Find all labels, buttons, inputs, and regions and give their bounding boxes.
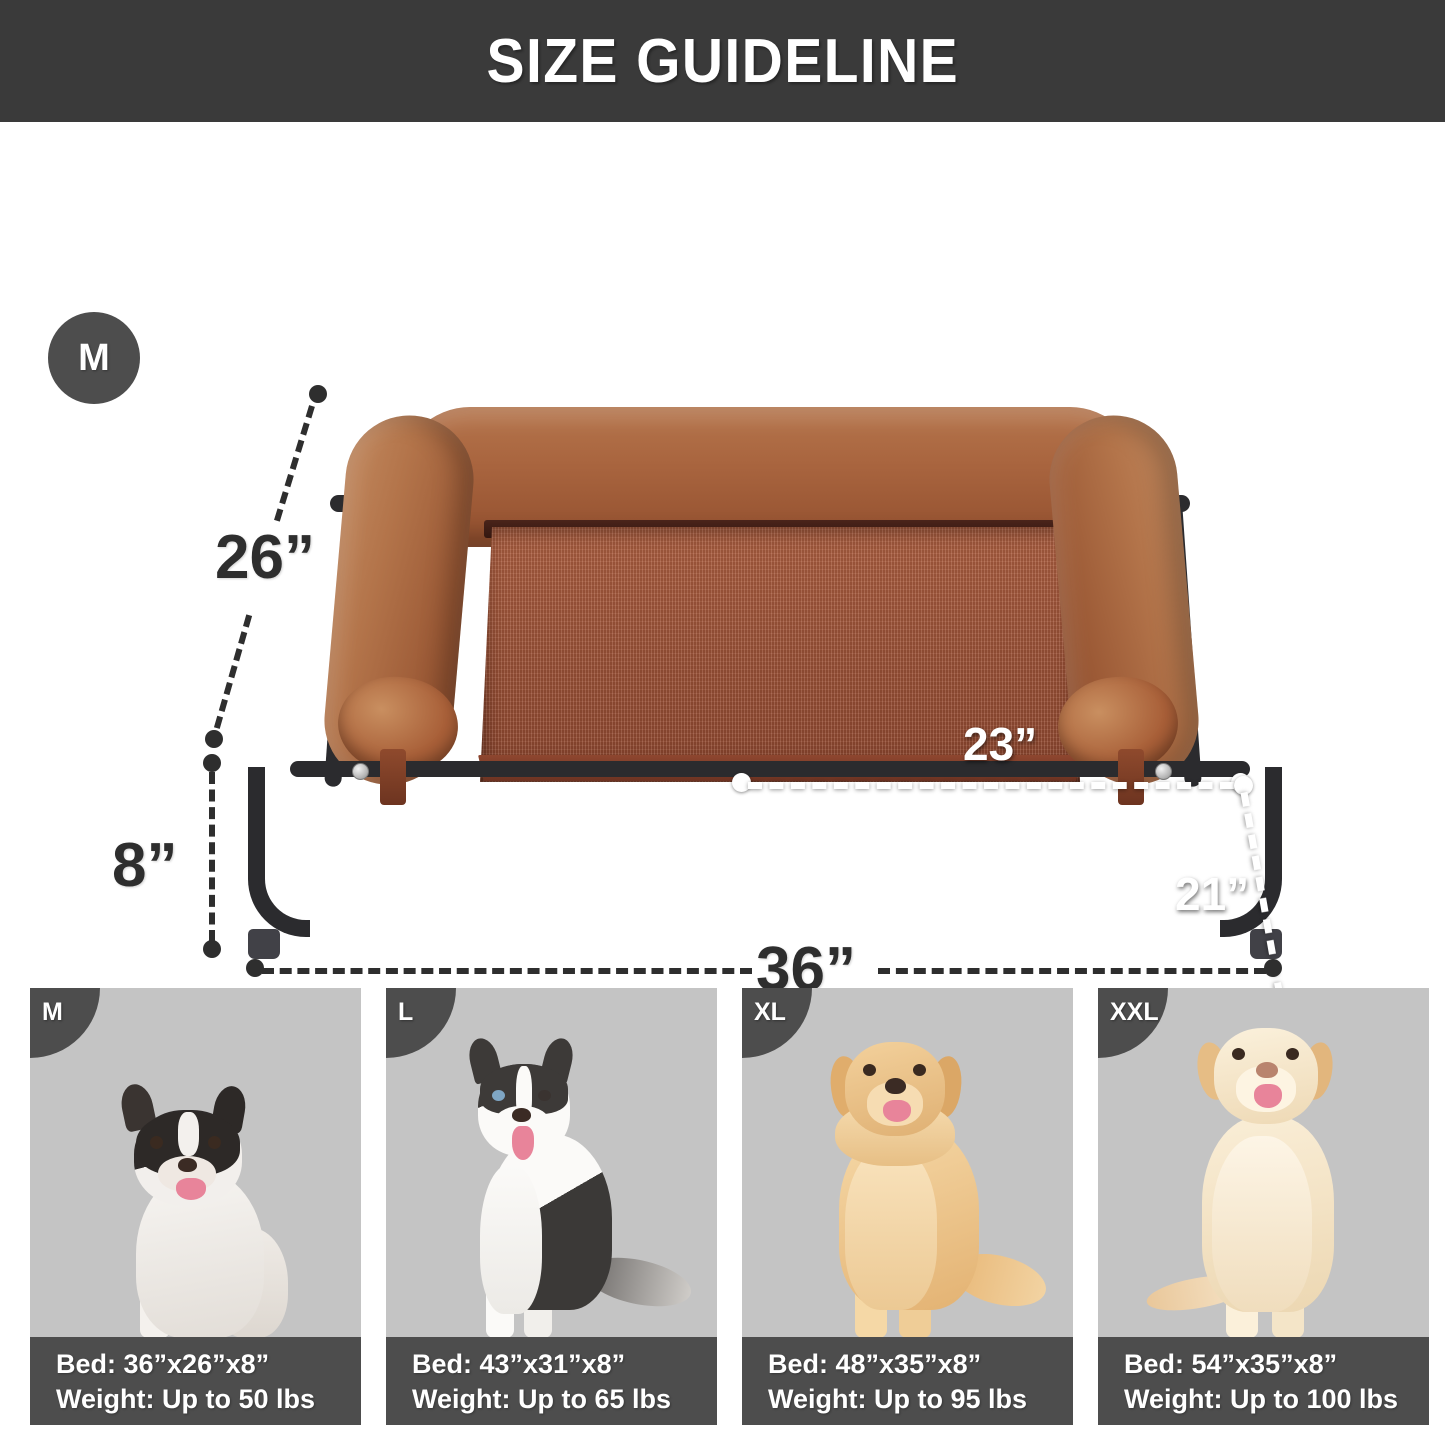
dog-eye xyxy=(1232,1048,1245,1060)
frame-screw-left xyxy=(352,763,369,780)
dog-eye xyxy=(538,1090,551,1101)
page-title: SIZE GUIDELINE xyxy=(486,26,959,97)
dog-photo-siberian-husky xyxy=(386,988,717,1338)
dog-tongue xyxy=(176,1178,206,1200)
leather-strap-right xyxy=(1118,749,1144,805)
bed-dimensions-text: Bed: 43”x31”x8” xyxy=(412,1347,717,1382)
golden-retriever-illustration xyxy=(783,1020,1033,1338)
dimension-dot-height-mid xyxy=(205,730,223,748)
weight-capacity-text: Weight: Up to 50 lbs xyxy=(56,1382,361,1417)
dog-chest xyxy=(845,1146,937,1310)
leather-strap-left xyxy=(380,749,406,805)
current-size-label: M xyxy=(78,337,110,380)
dog-chest xyxy=(480,1164,542,1314)
dimension-label-total-height: 26” xyxy=(215,522,315,593)
weight-capacity-text: Weight: Up to 65 lbs xyxy=(412,1382,717,1417)
size-card-badge-label: XXL xyxy=(1110,998,1159,1027)
bed-dimensions-text: Bed: 36”x26”x8” xyxy=(56,1347,361,1382)
elevated-dog-bed-illustration: 23” 21” xyxy=(230,377,1300,977)
dimension-dot-height-top xyxy=(309,385,327,403)
dimension-label-sleep-depth: 21” xyxy=(1175,867,1249,921)
size-card-xxl[interactable]: XXL Bed: 54”x35”x8” Weight: Up to 100 xyxy=(1098,988,1429,1425)
dimension-line-clearance xyxy=(209,772,215,942)
rubber-foot-cap-left xyxy=(248,929,280,959)
dog-eye xyxy=(863,1064,876,1076)
page-header: SIZE GUIDELINE xyxy=(0,0,1445,122)
dog-eye xyxy=(150,1136,163,1149)
dimension-label-clearance: 8” xyxy=(112,830,177,901)
product-diagram-section: M 23” 21” 26” xyxy=(0,122,1445,972)
frame-leg-left xyxy=(248,767,310,937)
weight-capacity-text: Weight: Up to 95 lbs xyxy=(768,1382,1073,1417)
size-card-caption-xl: Bed: 48”x35”x8” Weight: Up to 95 lbs xyxy=(742,1337,1073,1425)
dog-photo-yellow-labrador xyxy=(1098,988,1429,1338)
dimension-dot-length-right xyxy=(1264,959,1282,977)
dimension-line-width xyxy=(748,782,1234,789)
size-card-l[interactable]: L Bed: 43”x31”x8” W xyxy=(386,988,717,1425)
french-bulldog-illustration xyxy=(96,1078,296,1338)
size-card-grid: M Bed: 36”x26”x8” Weight: Up xyxy=(30,988,1430,1428)
weight-capacity-text: Weight: Up to 100 lbs xyxy=(1124,1382,1429,1417)
dimension-label-sleep-width: 23” xyxy=(963,717,1037,771)
dimension-dot-clearance-bottom xyxy=(203,940,221,958)
frame-bottom-rail xyxy=(290,761,1250,777)
current-size-badge: M xyxy=(48,312,140,404)
dog-nose xyxy=(178,1158,197,1172)
dimension-line-length-left xyxy=(262,968,752,974)
dog-nose xyxy=(512,1108,531,1122)
dog-eye xyxy=(1286,1048,1299,1060)
dog-nose xyxy=(885,1078,906,1094)
size-card-caption-m: Bed: 36”x26”x8” Weight: Up to 50 lbs xyxy=(30,1337,361,1425)
bed-dimensions-text: Bed: 48”x35”x8” xyxy=(768,1347,1073,1382)
dog-face-blaze xyxy=(178,1112,199,1156)
size-card-badge-label: M xyxy=(42,998,63,1027)
dog-nose xyxy=(1256,1062,1278,1078)
size-card-caption-l: Bed: 43”x31”x8” Weight: Up to 65 lbs xyxy=(386,1337,717,1425)
dog-photo-french-bulldog xyxy=(30,988,361,1338)
yellow-labrador-illustration xyxy=(1140,1008,1388,1338)
dog-tongue xyxy=(883,1100,911,1122)
dog-chest xyxy=(1212,1136,1312,1312)
bed-dimensions-text: Bed: 54”x35”x8” xyxy=(1124,1347,1429,1382)
dog-eye xyxy=(913,1064,926,1076)
dog-tongue xyxy=(1254,1084,1282,1108)
frame-screw-right xyxy=(1155,763,1172,780)
dog-eye xyxy=(208,1136,221,1149)
size-card-caption-xxl: Bed: 54”x35”x8” Weight: Up to 100 lbs xyxy=(1098,1337,1429,1425)
dog-tongue xyxy=(512,1126,534,1160)
size-card-xl[interactable]: XL Bed: 48”x35”x8” Weight: U xyxy=(742,988,1073,1425)
dog-eye xyxy=(492,1090,505,1101)
size-card-badge-label: L xyxy=(398,998,413,1027)
size-card-badge-label: XL xyxy=(754,998,786,1027)
dimension-dot-clearance-top xyxy=(203,754,221,772)
size-card-m[interactable]: M Bed: 36”x26”x8” Weight: Up xyxy=(30,988,361,1425)
siberian-husky-illustration xyxy=(432,1038,672,1338)
dog-photo-golden-retriever xyxy=(742,988,1073,1338)
dimension-line-length-right xyxy=(878,968,1266,974)
